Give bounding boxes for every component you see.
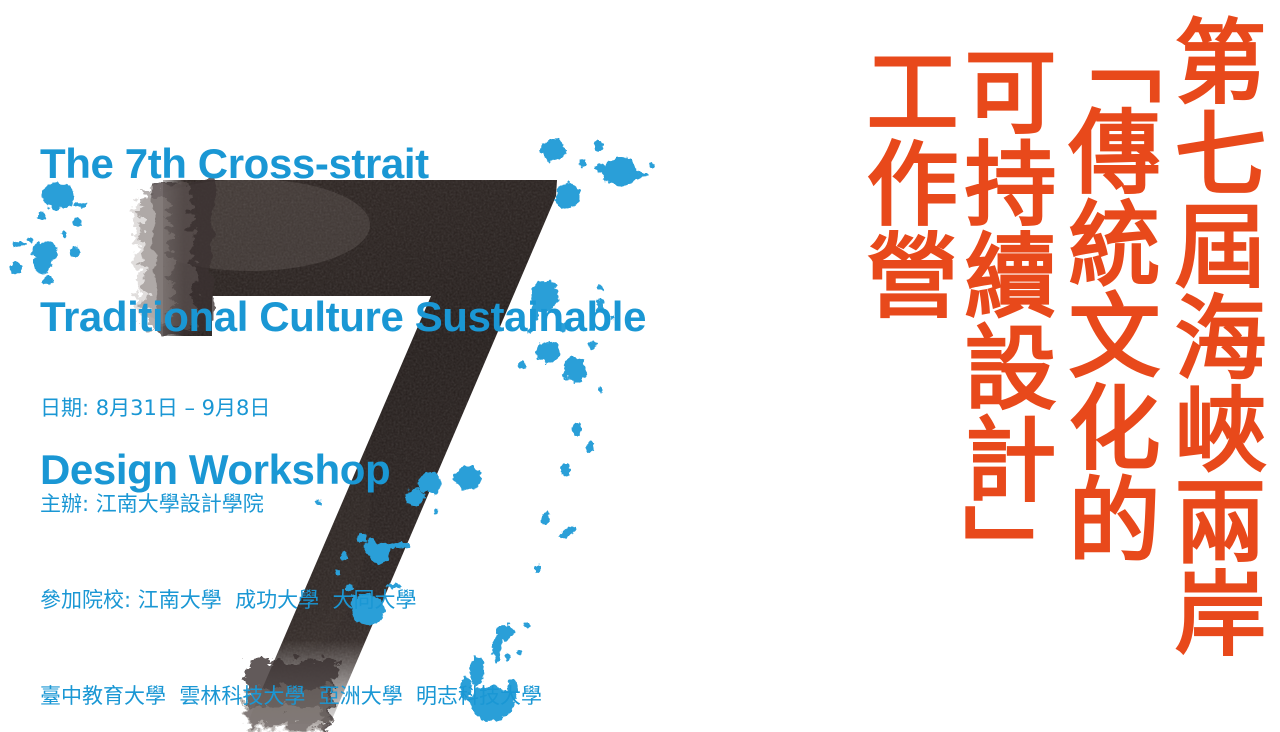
poster-canvas: The 7th Cross-strait Traditional Culture… <box>0 0 1280 732</box>
english-title-line-1: The 7th Cross-strait <box>40 138 740 189</box>
detail-date: 日期: 8月31日 – 9月8日 <box>40 392 542 424</box>
event-details: 日期: 8月31日 – 9月8日 主辦: 江南大學設計學院 參加院校: 江南大學… <box>40 328 542 732</box>
chinese-title-column-3: 可持續設計」 <box>956 44 1048 596</box>
chinese-title-column-1: 第七屆海峽兩岸 <box>1166 14 1258 658</box>
detail-schools-2: 臺中教育大學 雲林科技大學 亞洲大學 明志科技大學 <box>40 680 542 712</box>
chinese-title-column-4: 工作營 <box>858 44 950 320</box>
detail-schools-1: 參加院校: 江南大學 成功大學 大同大學 <box>40 584 542 616</box>
chinese-title-column-2: 「傳統文化的 <box>1060 12 1152 564</box>
detail-organizer: 主辦: 江南大學設計學院 <box>40 488 542 520</box>
